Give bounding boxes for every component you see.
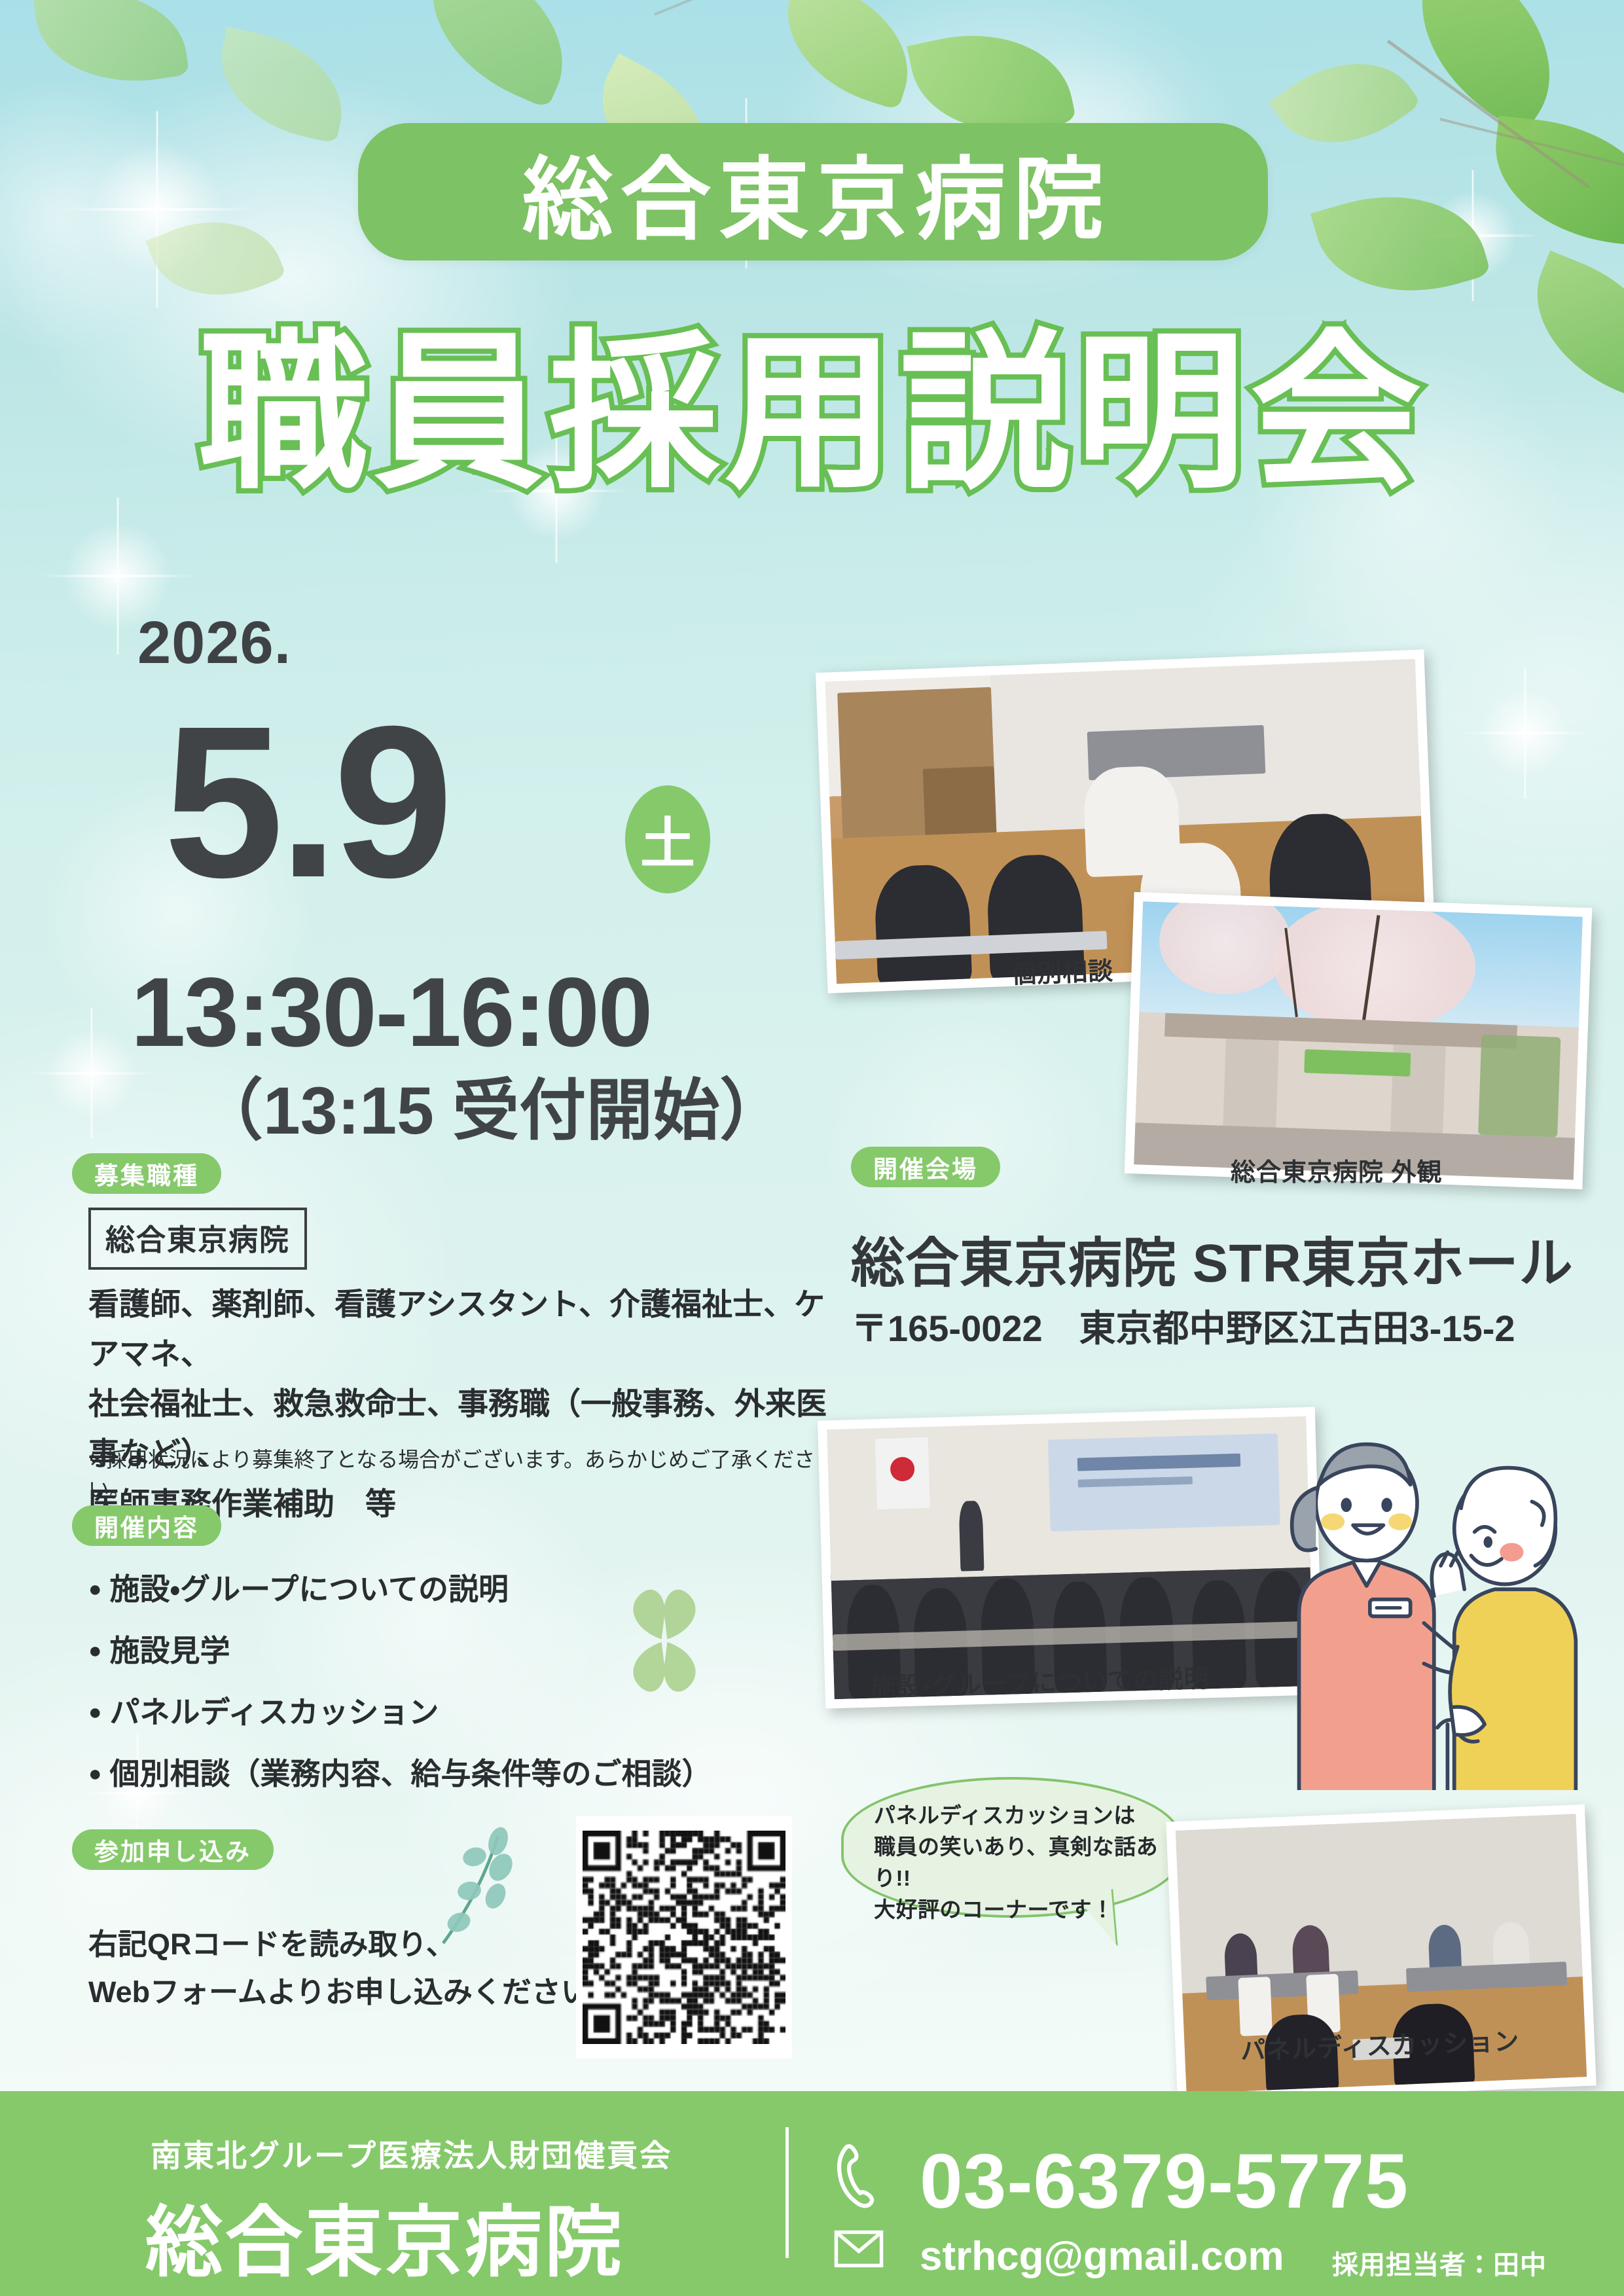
bullet-icon: ● <box>88 1700 102 1725</box>
apply-instructions: 右記QRコードを読み取り、 Webフォームよりお申し込みください。 <box>88 1921 651 2017</box>
section-label-venue: 開催会場 <box>851 1147 1000 1187</box>
speech-bubble-text: パネルディスカッションは 職員の笑いあり、真剣な話あり!! 大好評のコーナーです… <box>874 1800 1175 1925</box>
footer-group-name: 南東北グループ医療法人財団健貢会 <box>151 2130 672 2176</box>
footer-hospital-name: 総合東京病院 <box>145 2179 624 2291</box>
bullet-icon: ● <box>88 1761 102 1786</box>
photo-caption: 総合東京病院 外観 <box>1231 1152 1443 1188</box>
jobs-note: ※採用状況により募集終了となる場合がございます。あらかじめご了承ください。 <box>88 1443 835 1503</box>
event-time-range: 13:30-16:00 <box>131 956 651 1069</box>
qr-code[interactable] <box>576 1816 792 2058</box>
apply-line: 右記QRコードを読み取り、 <box>88 1921 651 1969</box>
bubble-line: 職員の笑いあり、真剣な話あり!! <box>874 1831 1175 1894</box>
agenda-item-label: 施設見学 <box>110 1634 230 1668</box>
event-reception-time: （13:15 受付開始） <box>196 1057 786 1153</box>
mail-icon <box>833 2229 885 2269</box>
hospital-name-pill: 総合東京病院 <box>358 123 1268 260</box>
section-label-apply-text: 参加申し込み <box>94 1832 251 1867</box>
footer-divider <box>785 2127 789 2258</box>
weekday-badge: 土 <box>625 785 710 893</box>
agenda-item-label: 施設・グループについての説明 <box>110 1572 509 1606</box>
clover-icon <box>592 1568 736 1718</box>
poster-root: 総合東京病院 職員採用説明会 2026. 5.9 土 13:30-16:00 （… <box>0 0 1624 2296</box>
caregiver-elderly-illustration <box>1247 1410 1587 1790</box>
phone-icon <box>831 2142 886 2210</box>
section-label-content-text: 開催内容 <box>94 1508 199 1543</box>
agenda-item-label: パネルディスカッション <box>110 1695 439 1729</box>
qr-code-canvas[interactable] <box>583 1831 785 2044</box>
footer-email[interactable]: strhcg@gmail.com <box>920 2233 1284 2280</box>
photo-hospital-exterior <box>1125 892 1593 1189</box>
weekday-badge-label: 土 <box>640 800 695 879</box>
event-date: 5.9 <box>164 694 448 910</box>
section-label-venue-text: 開催会場 <box>873 1149 978 1185</box>
footer-telephone[interactable]: 03-6379-5775 <box>920 2137 1409 2226</box>
sprig-icon <box>422 1823 527 1954</box>
footer-contact-person: 採用担当者：田中 <box>1332 2244 1547 2282</box>
event-year: 2026. <box>137 609 291 677</box>
photo-caption: 個別相談 <box>1011 950 1114 990</box>
bullet-icon: ● <box>88 1638 102 1663</box>
jobs-org-box: 総合東京病院 <box>88 1208 307 1270</box>
apply-line: Webフォームよりお申し込みください。 <box>88 1969 651 2017</box>
section-label-jobs-text: 募集職種 <box>94 1156 199 1191</box>
section-label-jobs: 募集職種 <box>72 1153 221 1194</box>
bubble-line: 大好評のコーナーです！ <box>874 1894 1175 1926</box>
agenda-item: ●個別相談（業務内容、給与条件等のご相談） <box>88 1759 848 1789</box>
jobs-line: 看護師、薬剤師、看護アシスタント、介護福祉士、ケアマネ、 <box>88 1280 828 1379</box>
hospital-pill-label: 総合東京病院 <box>514 126 1111 257</box>
section-label-apply: 参加申し込み <box>72 1829 274 1870</box>
agenda-item-label: 個別相談（業務内容、給与条件等のご相談） <box>110 1757 712 1791</box>
page-title: 職員採用説明会 <box>0 308 1624 520</box>
venue-address: 〒165-0022 東京都中野区江古田3-15-2 <box>851 1299 1515 1352</box>
bubble-line: パネルディスカッションは <box>874 1800 1175 1831</box>
photo-image <box>1134 901 1583 1179</box>
venue-name: 総合東京病院 STR東京ホール <box>851 1219 1574 1297</box>
photo-image <box>827 1416 1313 1699</box>
bullet-icon: ● <box>88 1577 102 1602</box>
section-label-content: 開催内容 <box>72 1505 221 1546</box>
